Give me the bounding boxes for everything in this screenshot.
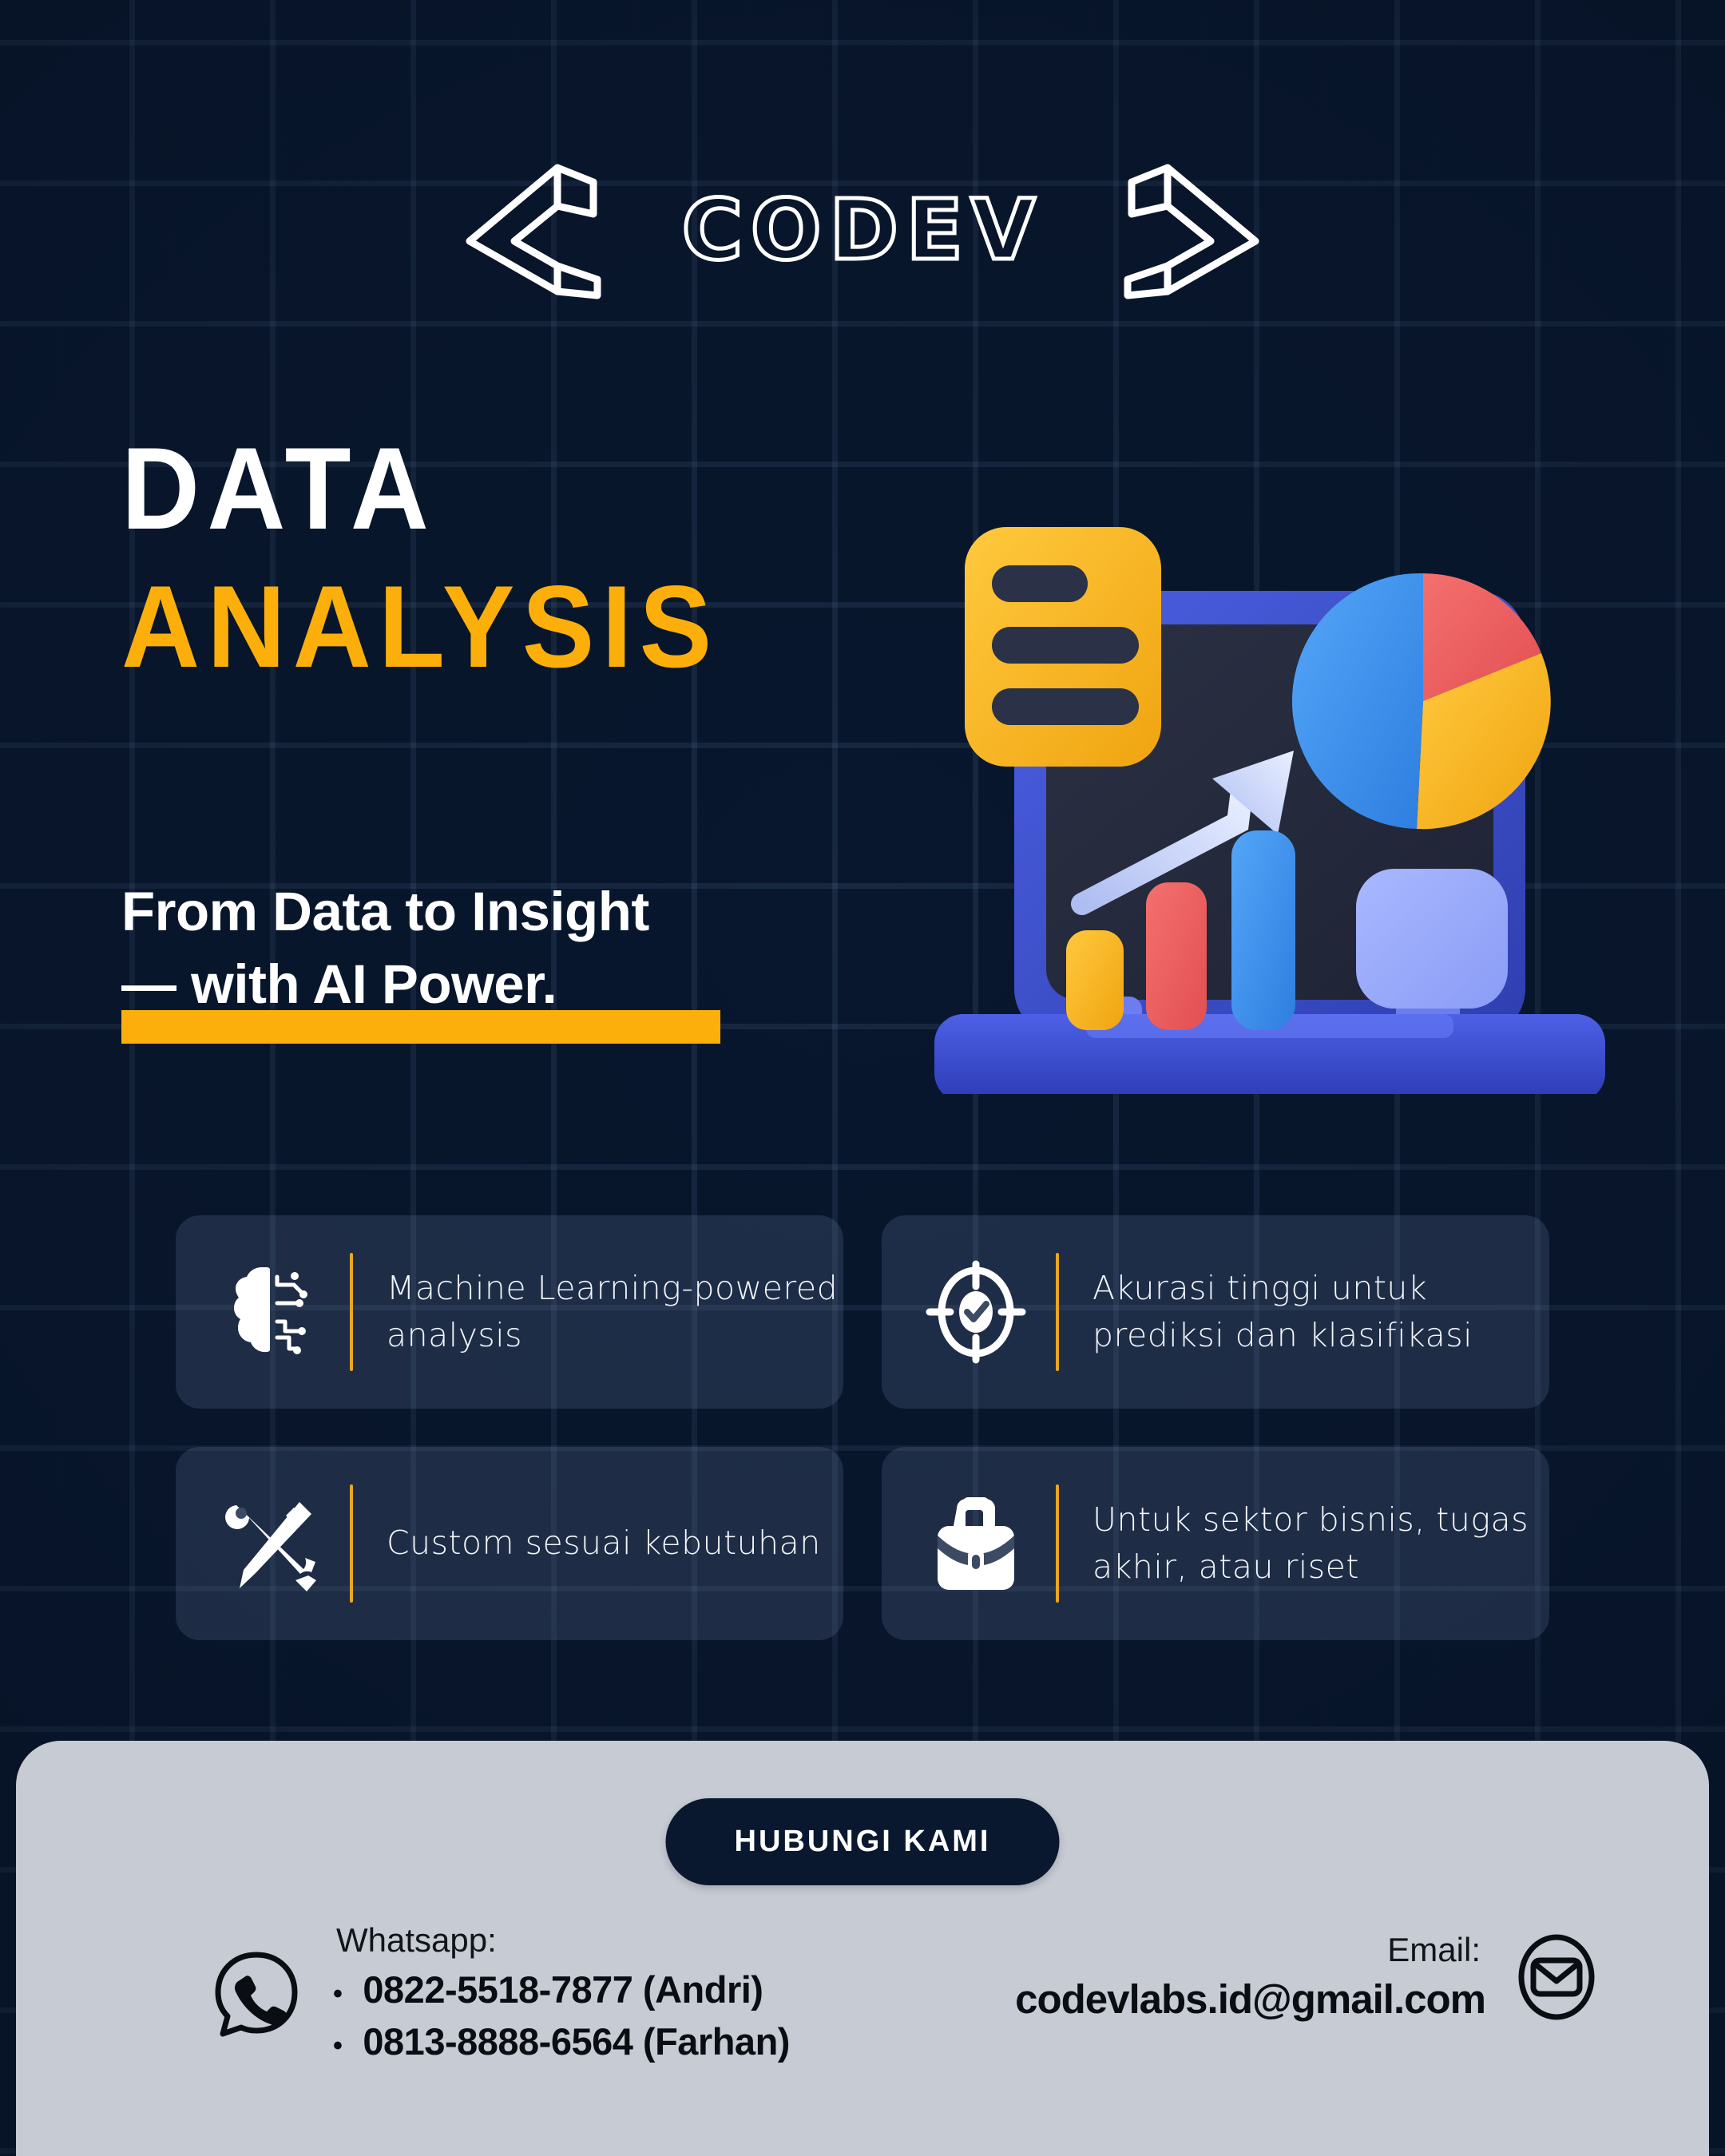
pencil-wrench-icon [214,1488,326,1599]
footer-panel: HUBUNGI KAMI Whatsapp: • 0822-5518-7877 … [16,1741,1709,2156]
bullet-icon: • [333,1980,342,2007]
whatsapp-number-item[interactable]: • 0813-8888-6564 (Farhan) [333,2016,790,2068]
hero-illustration [918,495,1621,1094]
feature-label: Untuk sektor bisnis, tugas akhir, atau r… [1092,1496,1549,1591]
card-divider [350,1253,353,1371]
envelope-circle-icon[interactable] [1513,1933,1600,2021]
logo-right-chevron-3d-icon [1048,152,1287,303]
bullet-icon: • [333,2032,342,2059]
logo-wordmark: CODEV [682,184,1044,271]
brain-circuit-icon [214,1256,326,1368]
contact-us-button[interactable]: HUBUNGI KAMI [666,1798,1060,1885]
whatsapp-number-item[interactable]: • 0822-5518-7877 (Andri) [333,1964,790,2016]
tagline-line-2: — with AI Power. [121,955,840,1015]
tagline-line-1: From Data to Insight [121,882,840,942]
tagline: From Data to Insight — with AI Power. [121,882,840,1014]
feature-label: Akurasi tinggi untuk prediksi dan klasif… [1092,1265,1549,1360]
email-contact-block: Email: codevlabs.id@gmail.com [1015,1931,1600,2023]
feature-card-machine-learning[interactable]: Machine Learning-powered analysis [176,1215,843,1409]
feature-label: Machine Learning-powered analysis [387,1265,843,1360]
target-check-icon [920,1256,1032,1368]
logo-left-chevron-3d-icon [438,152,677,303]
whatsapp-label: Whatsapp: [336,1921,790,1960]
feature-card-sectors[interactable]: Untuk sektor bisnis, tugas akhir, atau r… [882,1447,1549,1640]
email-label: Email: [1387,1931,1481,1969]
briefcase-icon [920,1488,1032,1599]
poster-root: CODEV DATA ANALYSIS From Data to Insight… [0,0,1725,2156]
headline-line-1: DATA [121,431,938,545]
whatsapp-number: 0822-5518-7877 (Andri) [363,1964,763,2016]
page-title: DATA ANALYSIS [121,431,1000,684]
tagline-underline-bar [121,1010,720,1044]
headline-line-2: ANALYSIS [121,569,938,684]
card-divider [350,1484,353,1603]
feature-card-grid: Machine Learning-powered analysis [176,1215,1549,1640]
brand-logo: CODEV [0,148,1725,307]
card-divider [1056,1484,1059,1603]
email-address[interactable]: codevlabs.id@gmail.com [1015,1976,1485,2023]
feature-card-accuracy[interactable]: Akurasi tinggi untuk prediksi dan klasif… [882,1215,1549,1409]
laptop-analytics-3d-icon [918,495,1621,1094]
whatsapp-phone-icon[interactable] [212,1950,301,2039]
feature-card-custom[interactable]: Custom sesuai kebutuhan [176,1447,843,1640]
feature-label: Custom sesuai kebutuhan [387,1520,821,1567]
whatsapp-number: 0813-8888-6564 (Farhan) [363,2016,790,2068]
card-divider [1056,1253,1059,1371]
whatsapp-contact-block: Whatsapp: • 0822-5518-7877 (Andri) • 081… [212,1921,790,2068]
